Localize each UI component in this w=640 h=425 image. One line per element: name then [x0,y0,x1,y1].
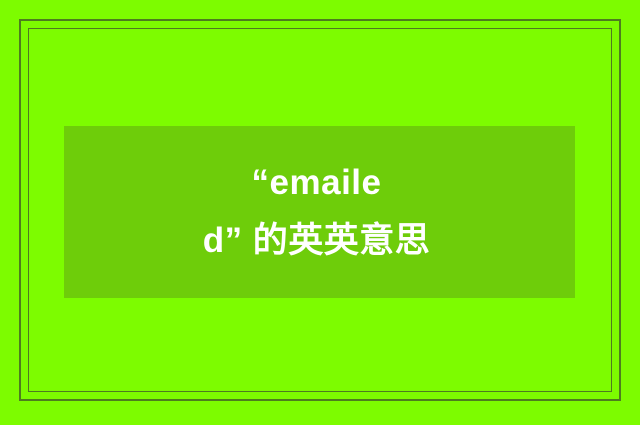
headline-line-2: d” 的英英意思 [86,212,553,270]
headline-line-1: “emaile [86,154,553,212]
content-box: “emaile d” 的英英意思 [64,126,575,298]
poster-canvas: “emaile d” 的英英意思 [0,0,640,425]
headline-block: “emaile d” 的英英意思 [64,126,575,298]
